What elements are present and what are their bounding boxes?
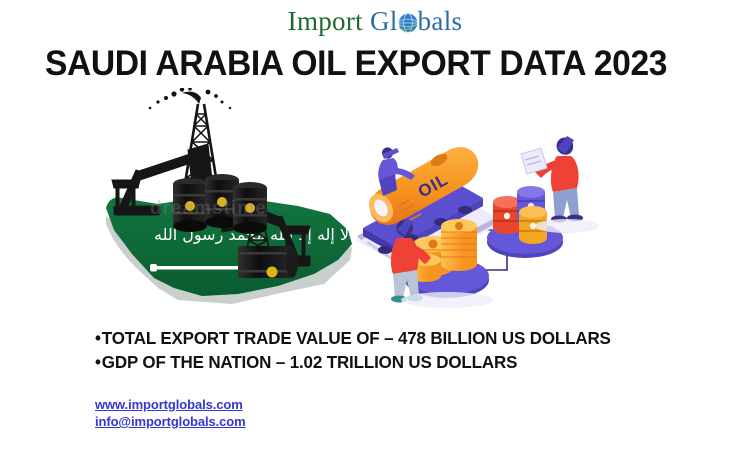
barrel-red (493, 196, 521, 234)
oil-barrel-lying (238, 246, 298, 278)
list-item-text: GDP OF THE NATION – 1.02 TRILLION US DOL… (102, 352, 518, 372)
bullet-marker: • (95, 352, 101, 372)
logo-text-import: Import (288, 6, 363, 36)
key-figures-list: •TOTAL EXPORT TRADE VALUE OF – 478 BILLI… (95, 326, 696, 374)
infographic-poster: Import Gl bals SAUDI ARABIA OIL EXPORT D… (0, 0, 750, 450)
oil-barrel (233, 182, 267, 234)
oil-barrel (173, 178, 207, 232)
list-item: •GDP OF THE NATION – 1.02 TRILLION US DO… (95, 350, 696, 374)
brand-logo[interactable]: Import Gl bals (0, 6, 750, 37)
globe-icon (397, 10, 419, 32)
list-item: •TOTAL EXPORT TRADE VALUE OF – 478 BILLI… (95, 326, 696, 350)
isometric-oil-trade-illustration: OIL (355, 118, 615, 313)
email-link[interactable]: info@importglobals.com (95, 413, 246, 430)
list-item-text: TOTAL EXPORT TRADE VALUE OF – 478 BILLIO… (102, 328, 611, 348)
logo-text-bals: bals (418, 6, 463, 36)
saudi-arabia-map-illustration: لا إله إلا الله محمد رسول الله (62, 88, 362, 313)
contact-links: www.importglobals.com info@importglobals… (95, 396, 246, 430)
logo-text-gl: Gl (370, 6, 398, 36)
page-title: SAUDI ARABIA OIL EXPORT DATA 2023 (45, 44, 688, 84)
website-link[interactable]: www.importglobals.com (95, 396, 246, 413)
bullet-marker: • (95, 328, 101, 348)
oil-gusher (149, 88, 232, 109)
